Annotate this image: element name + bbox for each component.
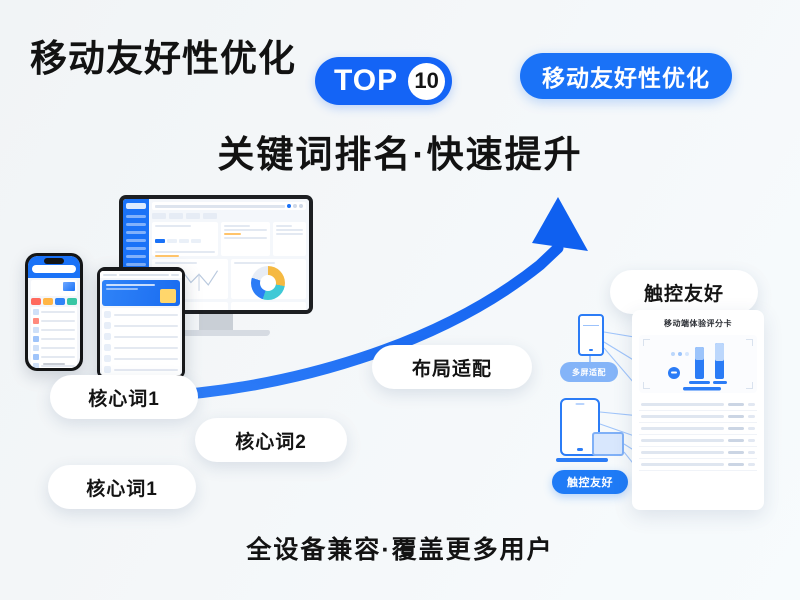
area-chart-icon-2 xyxy=(234,305,304,310)
tablet-icon xyxy=(97,267,185,379)
keyword-pill-2[interactable]: 核心词2 xyxy=(195,418,347,462)
keyword-pill-layout[interactable]: 布局适配 xyxy=(372,345,532,389)
page-title: 移动友好性优化 xyxy=(30,28,296,82)
top-badge-word: TOP xyxy=(334,64,398,98)
device-connection-diagram: 多屏适配 触控友好 xyxy=(548,312,640,510)
donut-chart-icon xyxy=(251,266,285,300)
footer-tagline: 全设备兼容·覆盖更多用户 xyxy=(0,530,800,566)
top-badge-number: 10 xyxy=(408,63,445,100)
scorecard-row xyxy=(639,459,757,471)
mobile-experience-scorecard: 移动端体验评分卡 xyxy=(632,310,764,510)
phone-search-bar xyxy=(32,265,76,273)
scorecard-row xyxy=(639,399,757,411)
device-stand xyxy=(556,458,608,462)
keyword-pill-touch[interactable]: 触控友好 xyxy=(610,270,758,314)
blue-tag-label: 移动友好性优化 xyxy=(520,53,732,99)
bar-chart-icon xyxy=(639,335,757,393)
scorecard-row xyxy=(639,435,757,447)
scorecard-row xyxy=(639,423,757,435)
page-subtitle: 关键词排名·快速提升 xyxy=(0,124,800,178)
tablet-list xyxy=(102,308,180,375)
keyword-pill-1[interactable]: 核心词1 xyxy=(50,375,198,419)
phone-result-list xyxy=(31,307,77,368)
scorecard-metric-list xyxy=(639,399,757,471)
small-tablet-icon xyxy=(592,432,624,456)
scorecard-row xyxy=(639,411,757,423)
poster-canvas: 移动友好性优化 TOP 10 移动友好性优化 关键词排名·快速提升 xyxy=(0,0,800,600)
device-mockup-group xyxy=(25,195,345,365)
diagram-badge-bottom: 触控友好 xyxy=(552,470,628,494)
phone-notch xyxy=(44,258,64,264)
small-phone-icon xyxy=(578,314,604,356)
top-rank-badge: TOP 10 xyxy=(315,57,452,105)
scorecard-row xyxy=(639,447,757,459)
scorecard-title: 移动端体验评分卡 xyxy=(639,318,757,329)
scorecard-illustration xyxy=(639,335,757,393)
keyword-pill-3[interactable]: 核心词1 xyxy=(48,465,196,509)
diagram-badge-top: 多屏适配 xyxy=(560,362,618,382)
smartphone-icon xyxy=(25,253,83,371)
tablet-banner xyxy=(102,280,180,306)
